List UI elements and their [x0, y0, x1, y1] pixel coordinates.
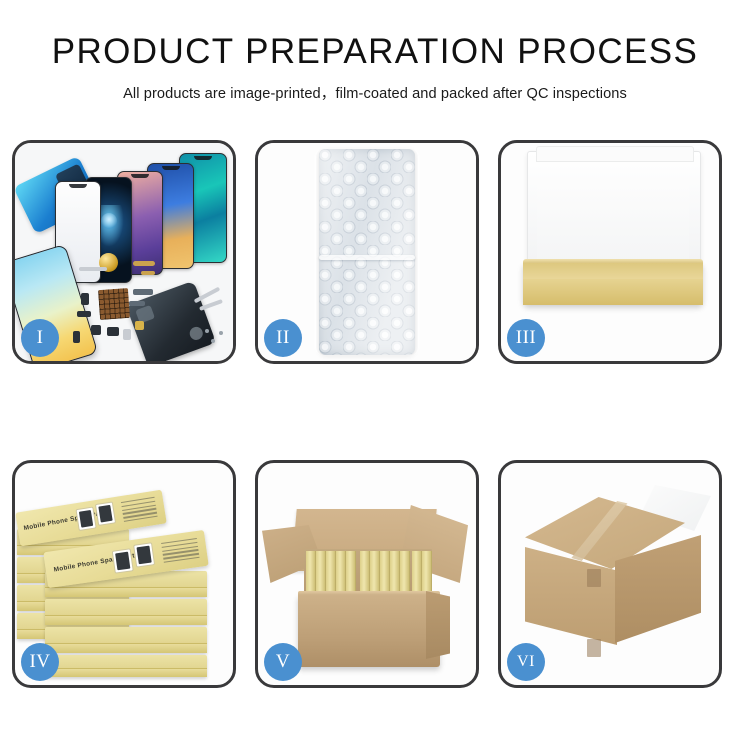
chip-array-icon	[98, 288, 130, 320]
screw-icon	[219, 331, 223, 335]
small-part-icon	[73, 331, 80, 343]
gold-contact-icon	[135, 321, 144, 330]
box-product-thumbnail	[112, 548, 134, 573]
notch-icon	[162, 166, 180, 170]
button-part-icon	[107, 327, 119, 336]
carton-handle-mark-icon	[587, 569, 601, 587]
vibrator-icon	[91, 325, 101, 335]
thumbnail-screen	[79, 510, 93, 528]
page-title: PRODUCT PREPARATION PROCESS	[0, 34, 750, 71]
box-side-face	[45, 615, 207, 625]
screw-icon	[211, 339, 215, 343]
kraft-box-icon	[523, 263, 703, 305]
bubble-wrap-icon	[319, 149, 415, 355]
carton-front-face-icon	[298, 595, 440, 667]
foam-sheet-icon	[537, 183, 689, 263]
notch-icon	[131, 174, 149, 178]
box-product-thumbnail	[75, 507, 96, 532]
connector-icon	[77, 311, 91, 317]
step-badge-4: IV	[21, 643, 59, 681]
box-spec-lines	[121, 497, 158, 525]
sim-tray-icon	[123, 329, 131, 340]
box-side-face	[45, 668, 207, 677]
step-badge-2: II	[264, 319, 302, 357]
notch-icon	[69, 184, 87, 188]
stacked-box	[45, 599, 207, 625]
flex-cable-icon	[141, 271, 155, 275]
screw-icon	[205, 329, 209, 333]
header: PRODUCT PREPARATION PROCESS All products…	[0, 0, 750, 103]
box-product-thumbnail	[95, 501, 116, 526]
product-preparation-infographic: PRODUCT PREPARATION PROCESS All products…	[0, 0, 750, 750]
thumbnail-screen	[136, 546, 151, 565]
step-panel-2: II	[255, 140, 479, 364]
thumbnail-screen	[115, 552, 130, 571]
stacked-box	[45, 655, 207, 677]
box-front-face	[523, 279, 703, 305]
step-panel-4: Mobile Phone Spare Parts Mobile Phone Sp…	[12, 460, 236, 688]
box-spec-lines	[161, 538, 200, 565]
part-strip-icon	[79, 267, 107, 271]
step-badge-5: V	[264, 643, 302, 681]
flex-cable-icon	[133, 261, 155, 266]
wrap-fold-icon	[319, 255, 415, 260]
step-badge-3: III	[507, 319, 545, 357]
page-subtitle: All products are image-printed，film-coat…	[0, 82, 750, 103]
box-side-face	[45, 643, 207, 653]
connector-icon	[81, 293, 89, 305]
camera-module-icon	[133, 289, 153, 295]
step-panel-6: VI	[498, 460, 722, 688]
camera-module-icon	[129, 301, 145, 306]
box-product-thumbnail	[133, 542, 155, 567]
stacked-box	[45, 627, 207, 653]
step-panel-5: V	[255, 460, 479, 688]
box-side-face	[45, 587, 207, 597]
process-steps-grid: I II III	[12, 140, 738, 688]
thumbnail-screen	[98, 505, 112, 523]
step-badge-6: VI	[507, 643, 545, 681]
carton-side-face-icon	[426, 591, 450, 659]
step-panel-3: III	[498, 140, 722, 364]
step-panel-1: I	[12, 140, 236, 364]
step-badge-1: I	[21, 319, 59, 357]
notch-icon	[194, 156, 212, 160]
carton-handle-mark-icon	[587, 639, 601, 657]
